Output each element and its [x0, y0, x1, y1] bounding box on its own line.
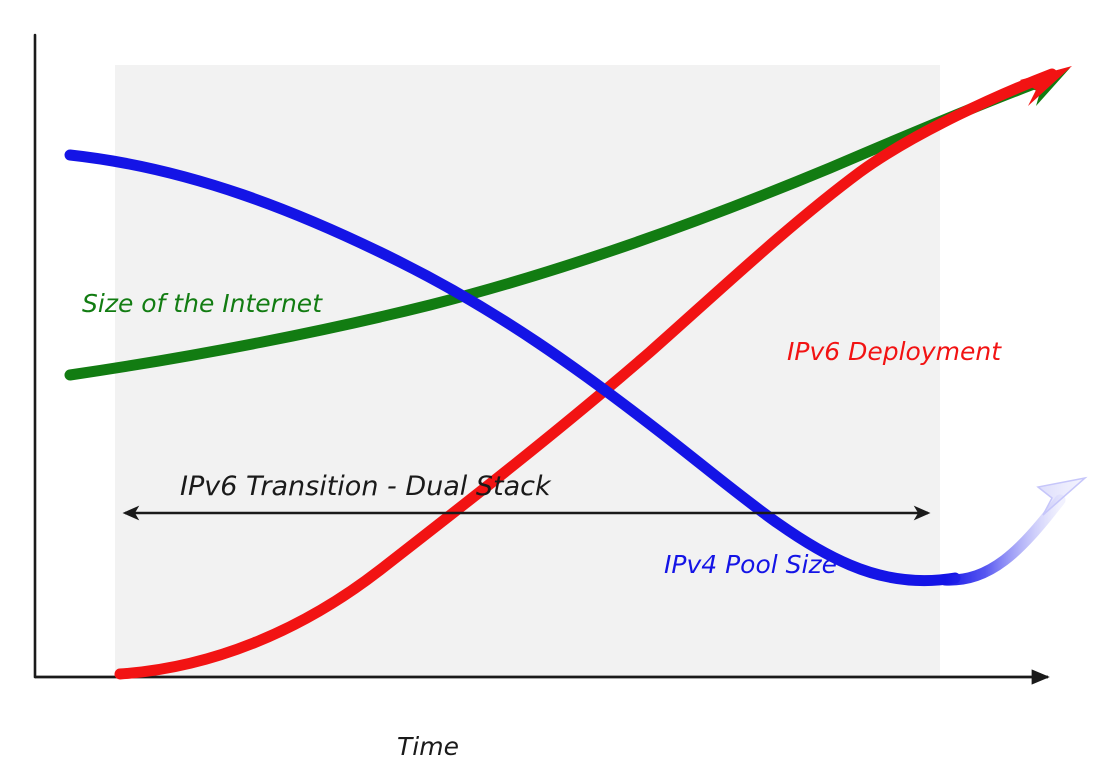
label-ipv6-deployment: IPv6 Deployment — [787, 337, 1002, 366]
chart-canvas: IPv6 Transition - Dual Stack Size of the… — [0, 0, 1116, 775]
transition-shaded-band — [115, 65, 940, 677]
series-arrowhead-ipv4-pool-size — [1038, 478, 1085, 515]
axis-label-x: Time — [397, 732, 459, 761]
label-ipv4-pool-size: IPv4 Pool Size — [664, 550, 837, 579]
label-transition-span: IPv6 Transition - Dual Stack — [180, 471, 552, 502]
series-tail-ipv4-pool-size — [945, 500, 1060, 580]
label-size-of-the-internet: Size of the Internet — [82, 289, 323, 318]
ipv6-transition-chart: IPv6 Transition - Dual Stack Size of the… — [0, 0, 1116, 775]
